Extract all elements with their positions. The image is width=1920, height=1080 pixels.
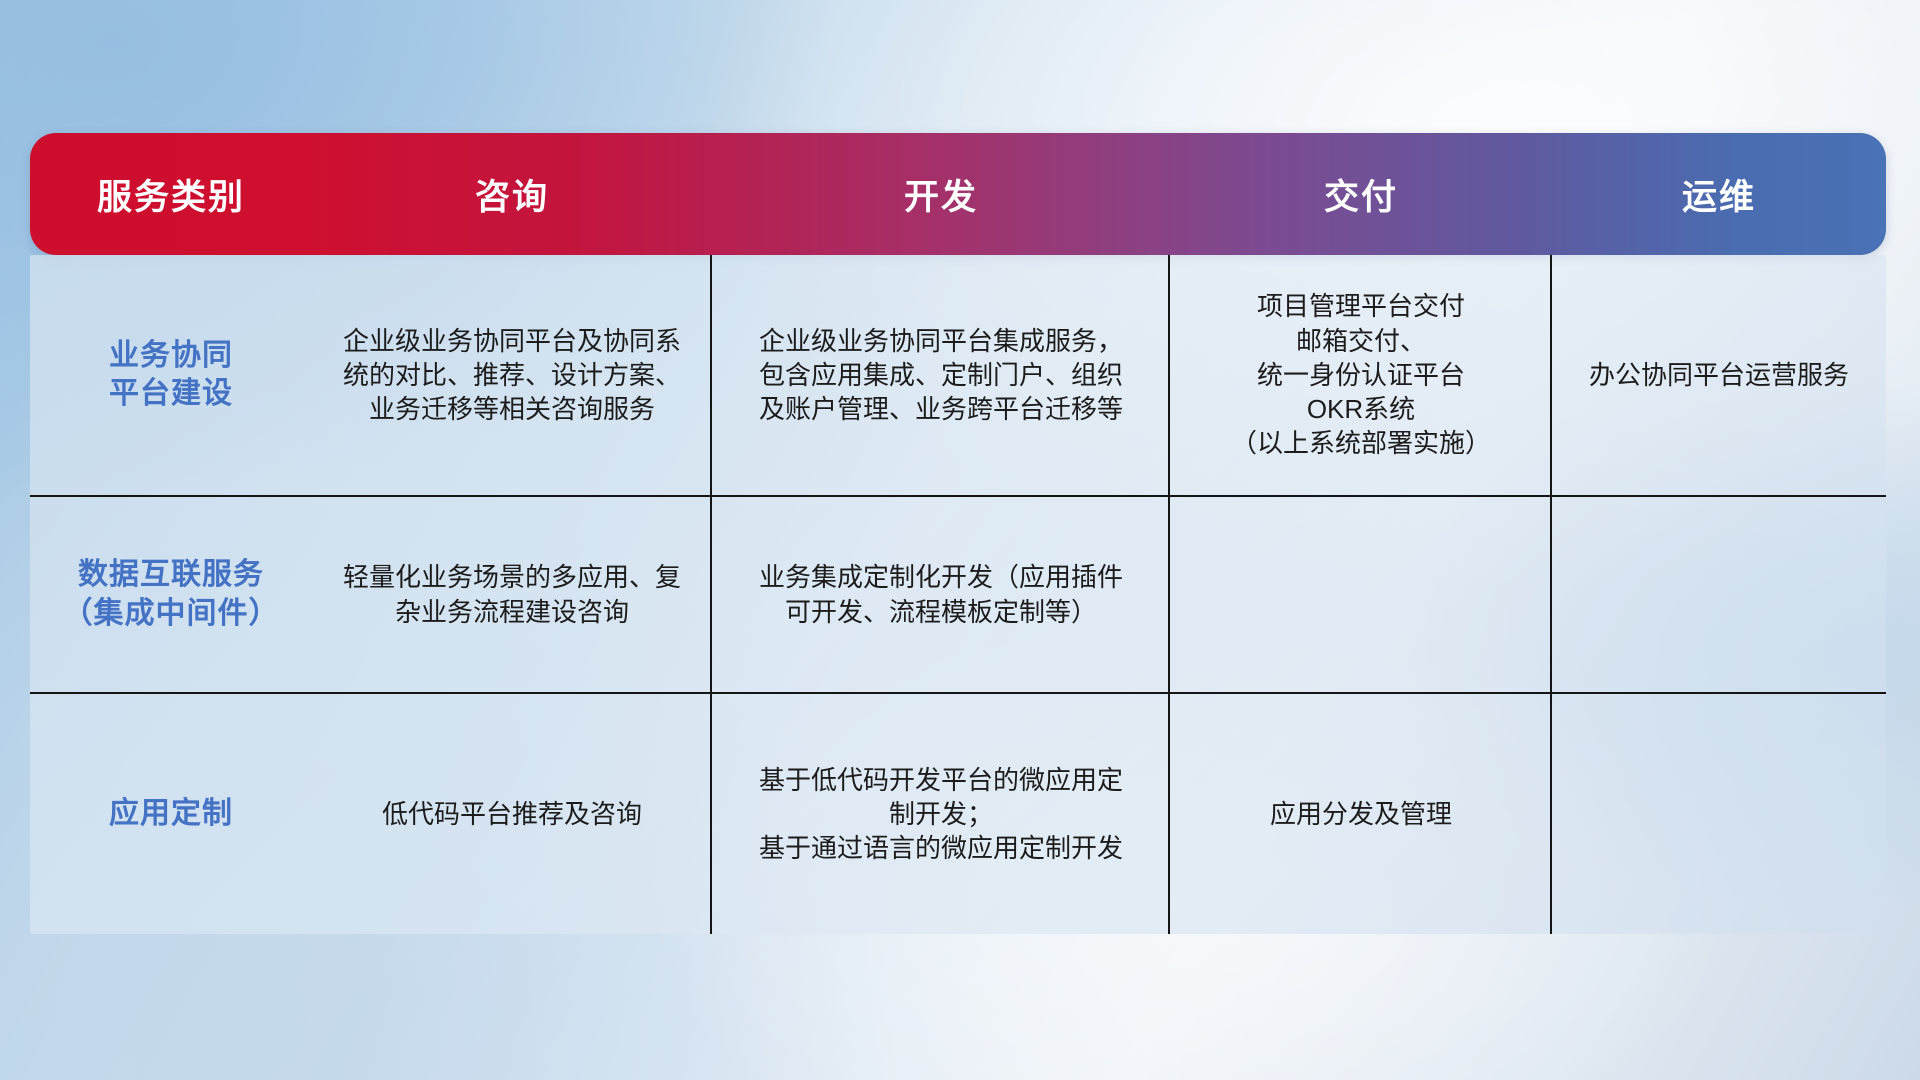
row-label-text: 数据互联服务 （集成中间件）: [63, 556, 280, 633]
row-label-text: 业务协同 平台建设: [109, 337, 233, 414]
table-row: 业务协同 平台建设 企业级业务协同平台及协同系 统的对比、推荐、设计方案、 业务…: [30, 255, 1886, 497]
slide-canvas: 服务类别 咨询 开发 交付 运维 业务协同 平台建设 企业级业务协同平台及协同系…: [0, 0, 1920, 1080]
cell-consulting: 低代码平台推荐及咨询: [312, 694, 712, 934]
cell-delivery: [1170, 497, 1552, 692]
cell-operations: [1552, 497, 1886, 692]
cell-text: 企业级业务协同平台集成服务， 包含应用集成、定制门户、组织 及账户管理、业务跨平…: [759, 324, 1123, 427]
table-body: 业务协同 平台建设 企业级业务协同平台及协同系 统的对比、推荐、设计方案、 业务…: [30, 255, 1886, 934]
column-header-delivery: 交付: [1170, 133, 1552, 255]
row-label-text: 应用定制: [109, 795, 233, 833]
cell-text: 办公协同平台运营服务: [1589, 358, 1849, 392]
cell-text: 业务集成定制化开发（应用插件 可开发、流程模板定制等）: [759, 560, 1123, 629]
table-row: 应用定制 低代码平台推荐及咨询 基于低代码开发平台的微应用定 制开发； 基于通过…: [30, 694, 1886, 934]
row-label-cell: 应用定制: [30, 694, 312, 934]
cell-text: 企业级业务协同平台及协同系 统的对比、推荐、设计方案、 业务迁移等相关咨询服务: [343, 324, 681, 427]
column-header-consulting: 咨询: [312, 133, 712, 255]
cell-development: 基于低代码开发平台的微应用定 制开发； 基于通过语言的微应用定制开发: [712, 694, 1170, 934]
cell-delivery: 项目管理平台交付 邮箱交付、 统一身份认证平台 OKR系统 （以上系统部署实施）: [1170, 255, 1552, 495]
cell-consulting: 轻量化业务场景的多应用、复 杂业务流程建设咨询: [312, 497, 712, 692]
cell-text: 应用分发及管理: [1270, 797, 1452, 831]
row-label-cell: 数据互联服务 （集成中间件）: [30, 497, 312, 692]
cell-development: 业务集成定制化开发（应用插件 可开发、流程模板定制等）: [712, 497, 1170, 692]
cell-development: 企业级业务协同平台集成服务， 包含应用集成、定制门户、组织 及账户管理、业务跨平…: [712, 255, 1170, 495]
cell-text: 低代码平台推荐及咨询: [382, 797, 642, 831]
cell-consulting: 企业级业务协同平台及协同系 统的对比、推荐、设计方案、 业务迁移等相关咨询服务: [312, 255, 712, 495]
cell-operations: [1552, 694, 1886, 934]
cell-text: 基于低代码开发平台的微应用定 制开发； 基于通过语言的微应用定制开发: [759, 763, 1123, 866]
column-header-category: 服务类别: [30, 133, 312, 255]
cell-operations: 办公协同平台运营服务: [1552, 255, 1886, 495]
column-header-development: 开发: [712, 133, 1170, 255]
cell-text: 项目管理平台交付 邮箱交付、 统一身份认证平台 OKR系统 （以上系统部署实施）: [1231, 289, 1491, 461]
table-header-row: 服务类别 咨询 开发 交付 运维: [30, 133, 1886, 255]
service-matrix-table: 服务类别 咨询 开发 交付 运维 业务协同 平台建设 企业级业务协同平台及协同系…: [30, 133, 1886, 934]
cell-text: 轻量化业务场景的多应用、复 杂业务流程建设咨询: [343, 560, 681, 629]
cell-delivery: 应用分发及管理: [1170, 694, 1552, 934]
column-header-operations: 运维: [1552, 133, 1886, 255]
row-label-cell: 业务协同 平台建设: [30, 255, 312, 495]
table-row: 数据互联服务 （集成中间件） 轻量化业务场景的多应用、复 杂业务流程建设咨询 业…: [30, 497, 1886, 694]
